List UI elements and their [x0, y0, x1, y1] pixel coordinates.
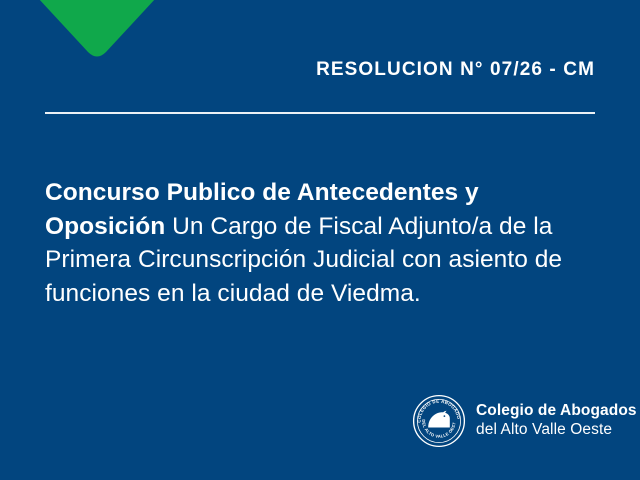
resolution-poster: RESOLUCION N° 07/26 - CM Concurso Public…: [0, 0, 640, 480]
brand-name-line-2: del Alto Valle Oeste: [476, 421, 637, 440]
green-chevron-down-icon: [38, 0, 156, 60]
brand-name-line-1: Colegio de Abogados: [476, 402, 637, 421]
colegio-seal-icon: COLEGIO DE ABOGADOS DEL ALTO VALLE OESTE: [412, 394, 466, 448]
brand-name: Colegio de Abogados del Alto Valle Oeste: [476, 402, 637, 440]
header-row: RESOLUCION N° 07/26 - CM: [45, 60, 595, 80]
resolution-title: RESOLUCION N° 07/26 - CM: [316, 60, 595, 79]
announcement-text: Concurso Publico de Antecedentes y Oposi…: [45, 176, 605, 310]
brand-lockup: COLEGIO DE ABOGADOS DEL ALTO VALLE OESTE…: [412, 394, 637, 448]
header-divider: [45, 112, 595, 114]
